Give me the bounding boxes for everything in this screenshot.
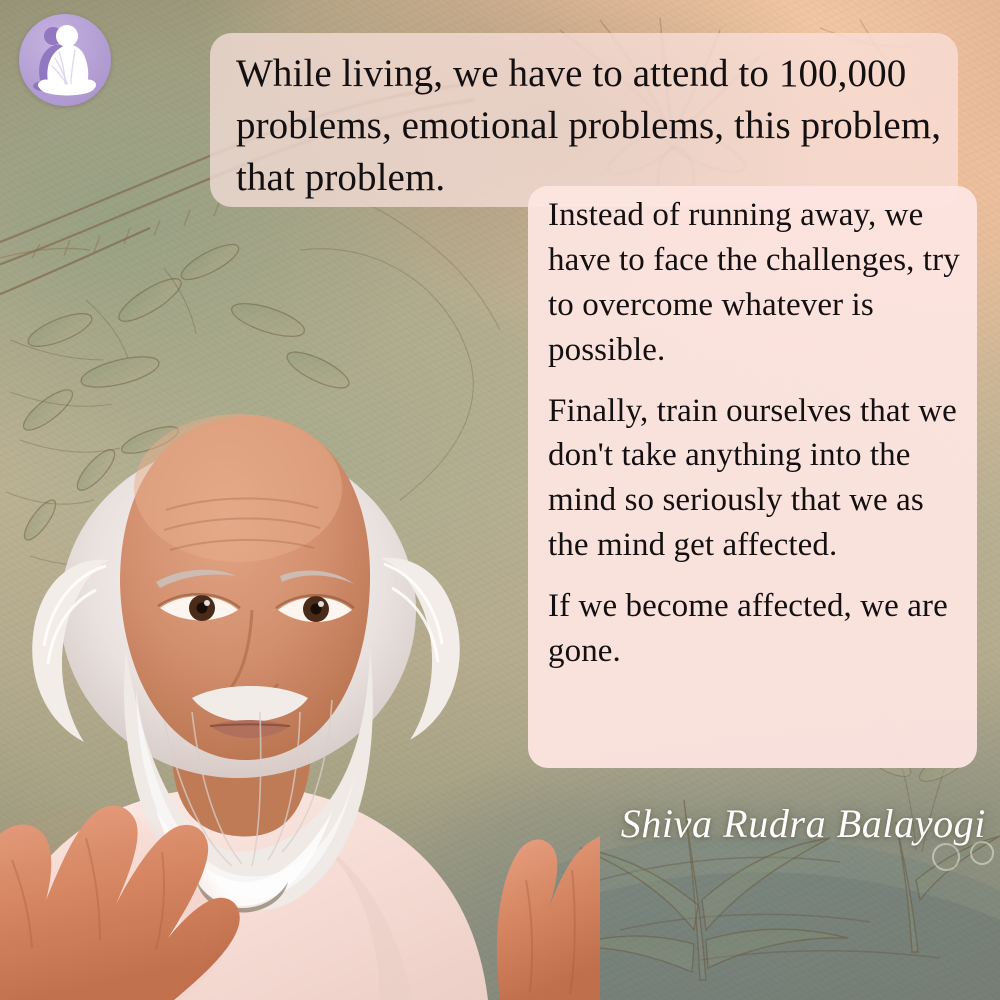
brand-logo[interactable]: [19, 14, 111, 106]
quote-paragraph-1: Instead of running away, we have to face…: [548, 193, 966, 373]
meditating-figure-icon: [19, 14, 111, 106]
quote-paragraph-2: Finally, train ourselves that we don't t…: [548, 389, 966, 569]
quote-paragraph-3: If we become affected, we are gone.: [548, 584, 966, 674]
attribution-name: Shiva Rudra Balayogi: [556, 800, 986, 847]
quote-text-intro: While living, we have to attend to 100,0…: [236, 48, 942, 204]
subject-portrait: [0, 360, 600, 1000]
quote-card: While living, we have to attend to 100,0…: [0, 0, 1000, 1000]
right-hand: [497, 836, 600, 1000]
quote-body: Instead of running away, we have to face…: [548, 193, 966, 674]
